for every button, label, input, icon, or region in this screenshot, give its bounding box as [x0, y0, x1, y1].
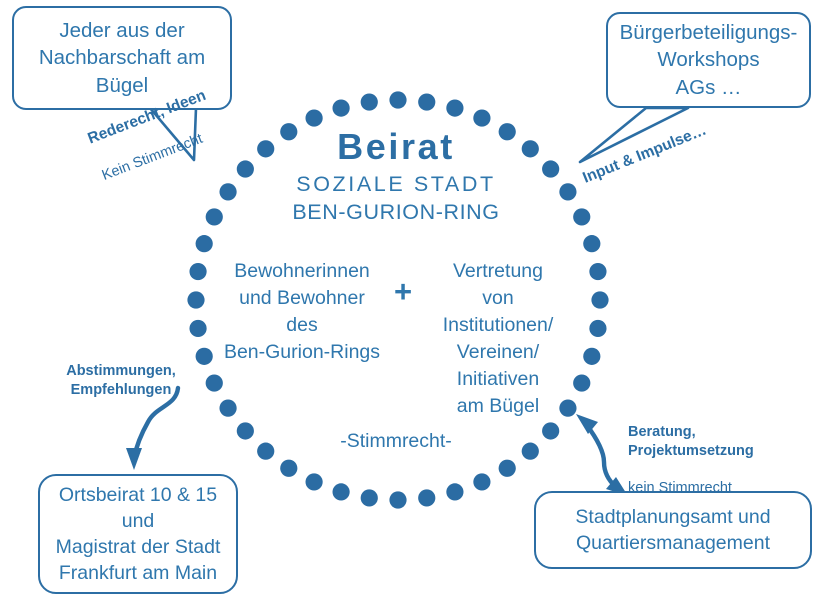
edge-label-beratung: Beratung, Projektumsetzung kein Stimmrec…	[628, 404, 788, 517]
edge-label-abstimmungen: Abstimmungen, Empfehlungen	[46, 362, 196, 400]
ring-dot	[591, 291, 608, 308]
ring-dot	[522, 443, 539, 460]
members-institutions-column: Vertretung von Institutionen/ Vereinen/ …	[418, 258, 578, 419]
edge-label-beratung-bold: Beratung, Projektumsetzung	[628, 423, 788, 461]
voting-rights-note: -Stimmrecht-	[296, 430, 496, 453]
diagram-canvas: Jeder aus der Nachbarschaft am Bügel Bür…	[0, 0, 820, 600]
ring-dot	[305, 473, 322, 490]
box-ortsbeirat[interactable]: Ortsbeirat 10 & 15 und Magistrat der Sta…	[38, 474, 238, 594]
ring-dot	[559, 183, 576, 200]
plus-icon: +	[388, 274, 418, 310]
ring-dot	[499, 460, 516, 477]
ring-dot	[305, 109, 322, 126]
ring-dot	[542, 422, 559, 439]
ring-dot	[542, 160, 559, 177]
ring-dot	[573, 208, 590, 225]
ring-dot	[418, 489, 435, 506]
ring-dot	[257, 443, 274, 460]
ring-dot	[446, 100, 463, 117]
ring-dot	[583, 235, 600, 252]
bubble-participation[interactable]: Bürgerbeteiligungs- Workshops AGs …	[606, 12, 811, 108]
arrow-abstimmungen	[126, 388, 178, 470]
members-residents-column: Bewohnerinnen und Bewohner des Ben-Gurio…	[216, 258, 388, 366]
ring-dot	[237, 422, 254, 439]
ring-dot	[418, 93, 435, 110]
ring-dot	[187, 291, 204, 308]
ring-dot	[522, 140, 539, 157]
ring-dot	[589, 320, 606, 337]
ring-dot	[389, 91, 406, 108]
ring-dot	[446, 483, 463, 500]
ring-dot	[589, 263, 606, 280]
ring-dot	[583, 348, 600, 365]
bubble-participation-text: Bürgerbeteiligungs- Workshops AGs …	[620, 19, 798, 100]
ring-dot	[206, 374, 223, 391]
ring-dot	[389, 491, 406, 508]
ring-dot	[189, 320, 206, 337]
ring-dot	[473, 473, 490, 490]
page-subtitle-line1: SOZIALE STADT	[270, 172, 522, 197]
ring-dot	[196, 348, 213, 365]
edge-label-beratung-sub: kein Stimmrecht	[628, 479, 788, 498]
ring-dot	[219, 183, 236, 200]
arrow-beratung	[576, 414, 628, 496]
ring-dot	[206, 208, 223, 225]
ring-dot	[237, 160, 254, 177]
ring-dot	[361, 93, 378, 110]
box-ortsbeirat-text: Ortsbeirat 10 & 15 und Magistrat der Sta…	[56, 482, 221, 587]
ring-dot	[332, 483, 349, 500]
ring-dot	[189, 263, 206, 280]
ring-dot	[361, 489, 378, 506]
ring-dot	[219, 400, 236, 417]
ring-dot	[332, 100, 349, 117]
page-subtitle-line2: BEN-GURION-RING	[258, 200, 534, 225]
page-title: Beirat	[270, 126, 522, 168]
ring-dot	[473, 109, 490, 126]
edge-label-input: Input & Impulse…	[580, 121, 710, 189]
ring-dot	[280, 460, 297, 477]
ring-dot	[196, 235, 213, 252]
